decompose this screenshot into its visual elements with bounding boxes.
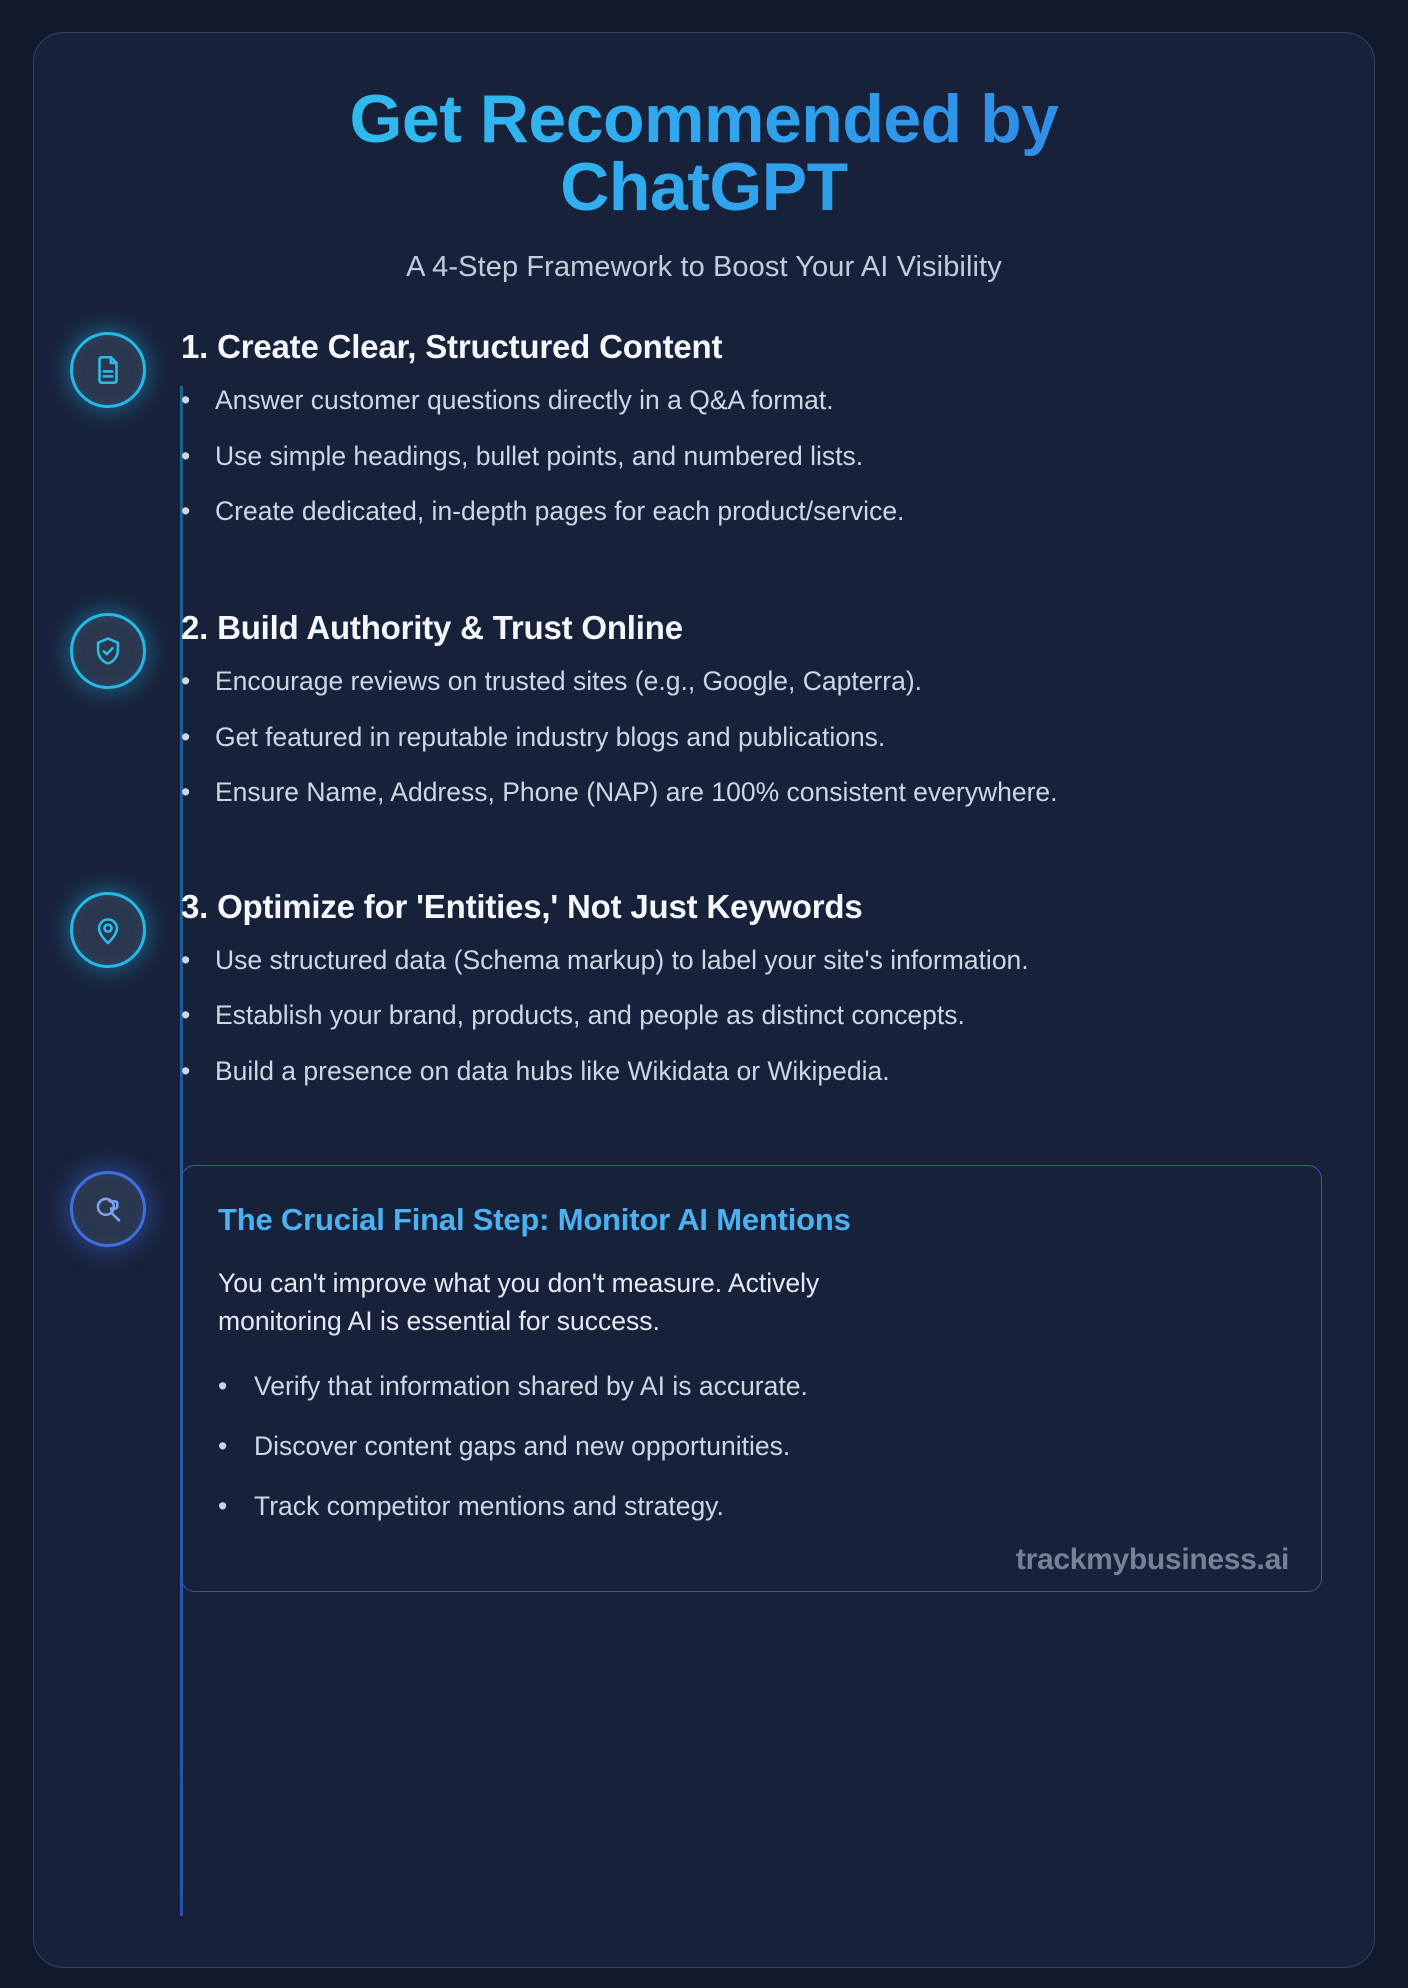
- step-node-3: [70, 892, 146, 968]
- infographic-page: Get Recommended by ChatGPT A 4-Step Fram…: [0, 0, 1428, 1988]
- shield-check-icon: [91, 634, 125, 668]
- step-node-2: [70, 613, 146, 689]
- page-subtitle: A 4-Step Framework to Boost Your AI Visi…: [94, 251, 1314, 284]
- bullet-glyph: •: [181, 1058, 215, 1085]
- document-icon: [91, 353, 125, 387]
- list-item: •Use structured data (Schema markup) to …: [181, 942, 1322, 980]
- list-item-text: Verify that information shared by AI is …: [254, 1371, 808, 1401]
- step-marker-2: [34, 607, 181, 689]
- list-item-text: Track competitor mentions and strategy.: [254, 1491, 724, 1521]
- list-item-text: Discover content gaps and new opportunit…: [254, 1431, 790, 1461]
- step-body-4: The Crucial Final Step: Monitor AI Menti…: [181, 1165, 1322, 1593]
- step-body-2: 2. Build Authority & Trust Online •Encou…: [181, 607, 1322, 830]
- list-item: •Ensure Name, Address, Phone (NAP) are 1…: [181, 774, 1322, 812]
- step-item-4: The Crucial Final Step: Monitor AI Menti…: [34, 1165, 1374, 1593]
- infographic-card: Get Recommended by ChatGPT A 4-Step Fram…: [33, 32, 1375, 1968]
- bullet-glyph: •: [181, 443, 215, 470]
- bullet-glyph: •: [218, 1493, 254, 1520]
- bullet-glyph: •: [218, 1433, 254, 1460]
- step-bullets-2: •Encourage reviews on trusted sites (e.g…: [181, 663, 1322, 812]
- bullet-glyph: •: [181, 779, 215, 806]
- bullet-glyph: •: [181, 498, 215, 525]
- brand-watermark: trackmybusiness.ai: [1016, 1543, 1289, 1577]
- header: Get Recommended by ChatGPT A 4-Step Fram…: [34, 33, 1374, 284]
- list-item: •Discover content gaps and new opportuni…: [218, 1428, 1285, 1466]
- list-item: •Encourage reviews on trusted sites (e.g…: [181, 663, 1322, 701]
- step-bullets-3: •Use structured data (Schema markup) to …: [181, 942, 1322, 1091]
- step-body-1: 1. Create Clear, Structured Content •Ans…: [181, 326, 1322, 549]
- list-item-text: Get featured in reputable industry blogs…: [215, 722, 885, 752]
- bullet-glyph: •: [181, 668, 215, 695]
- list-item: •Track competitor mentions and strategy.: [218, 1488, 1285, 1526]
- list-item: •Verify that information shared by AI is…: [218, 1368, 1285, 1406]
- step-title-2: 2. Build Authority & Trust Online: [181, 609, 1322, 647]
- list-item-text: Build a presence on data hubs like Wikid…: [215, 1056, 890, 1086]
- list-item-text: Use structured data (Schema markup) to l…: [215, 945, 1029, 975]
- step-bullets-1: •Answer customer questions directly in a…: [181, 382, 1322, 531]
- step-body-3: 3. Optimize for 'Entities,' Not Just Key…: [181, 886, 1322, 1109]
- highlight-bullets: •Verify that information shared by AI is…: [218, 1368, 1285, 1525]
- page-title: Get Recommended by ChatGPT: [94, 85, 1314, 221]
- page-right-gutter: [1408, 0, 1428, 1988]
- map-pin-icon: [91, 913, 125, 947]
- bullet-glyph: •: [181, 387, 215, 414]
- step-title-3: 3. Optimize for 'Entities,' Not Just Key…: [181, 888, 1322, 926]
- step-marker-3: [34, 886, 181, 968]
- step-item-1: 1. Create Clear, Structured Content •Ans…: [34, 326, 1374, 549]
- highlight-callout-box: The Crucial Final Step: Monitor AI Menti…: [181, 1165, 1322, 1593]
- list-item-text: Answer customer questions directly in a …: [215, 385, 834, 415]
- list-item: •Get featured in reputable industry blog…: [181, 719, 1322, 757]
- bullet-glyph: •: [181, 1002, 215, 1029]
- bullet-glyph: •: [181, 724, 215, 751]
- search-insight-icon: [91, 1192, 125, 1226]
- list-item-text: Use simple headings, bullet points, and …: [215, 441, 863, 471]
- steps-timeline: 1. Create Clear, Structured Content •Ans…: [34, 326, 1374, 1592]
- list-item-text: Create dedicated, in-depth pages for eac…: [215, 496, 904, 526]
- step-title-1: 1. Create Clear, Structured Content: [181, 328, 1322, 366]
- step-marker-4: [34, 1165, 181, 1247]
- list-item: •Use simple headings, bullet points, and…: [181, 438, 1322, 476]
- highlight-description: You can't improve what you don't measure…: [218, 1264, 918, 1341]
- step-node-1: [70, 332, 146, 408]
- list-item: •Establish your brand, products, and peo…: [181, 997, 1322, 1035]
- step-node-4: [70, 1171, 146, 1247]
- bullet-glyph: •: [218, 1373, 254, 1400]
- list-item: •Build a presence on data hubs like Wiki…: [181, 1053, 1322, 1091]
- list-item: •Create dedicated, in-depth pages for ea…: [181, 493, 1322, 531]
- step-item-3: 3. Optimize for 'Entities,' Not Just Key…: [34, 886, 1374, 1109]
- highlight-title: The Crucial Final Step: Monitor AI Menti…: [218, 1202, 1285, 1238]
- bullet-glyph: •: [181, 947, 215, 974]
- list-item: •Answer customer questions directly in a…: [181, 382, 1322, 420]
- list-item-text: Ensure Name, Address, Phone (NAP) are 10…: [215, 777, 1058, 807]
- list-item-text: Encourage reviews on trusted sites (e.g.…: [215, 666, 922, 696]
- step-item-2: 2. Build Authority & Trust Online •Encou…: [34, 607, 1374, 830]
- step-marker-1: [34, 326, 181, 408]
- list-item-text: Establish your brand, products, and peop…: [215, 1000, 965, 1030]
